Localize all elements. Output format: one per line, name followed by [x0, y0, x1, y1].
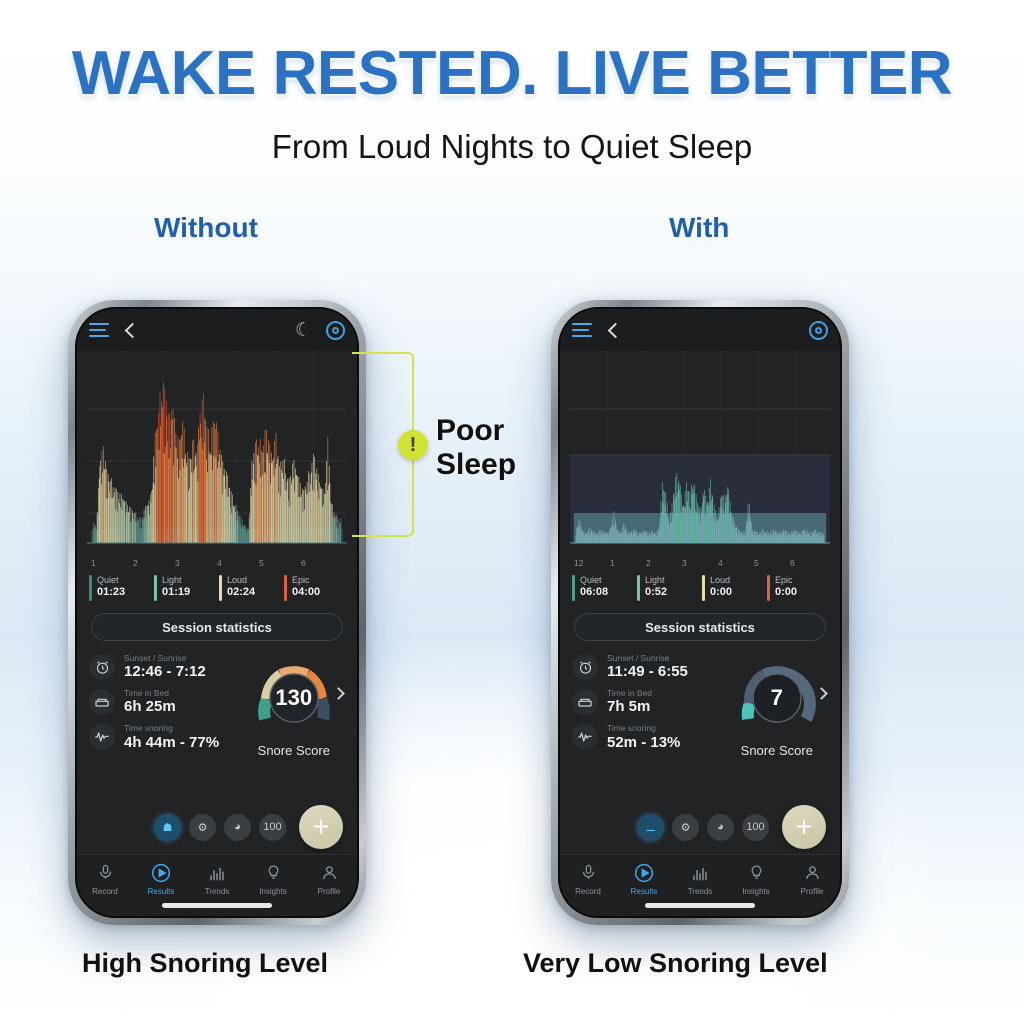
chart-x-axis-with: 12123456: [560, 557, 840, 573]
nav-item-label: Results: [148, 887, 175, 896]
nav-item-label: Profile: [801, 887, 824, 896]
nav-item-label: Insights: [259, 887, 287, 896]
bar-chart-icon: [208, 862, 226, 884]
caption-with: Very Low Snoring Level: [523, 948, 828, 979]
legend-item: Loud0:00: [702, 575, 763, 604]
nav-item-profile[interactable]: Profile: [784, 855, 840, 902]
phone-with: 12123456 Quiet06:08Light0:52Loud0:00Epic…: [551, 300, 849, 925]
session-stats-with: Sunset / Sunrise11:49 - 6:55Time in Bed7…: [560, 649, 840, 800]
add-button[interactable]: +: [782, 805, 826, 849]
stat-label: Time snoring: [124, 723, 219, 733]
legend-item: Light0:52: [637, 575, 698, 604]
stat-label: Time snoring: [607, 723, 680, 733]
snore-score-panel[interactable]: 7 Snore Score: [726, 649, 828, 800]
add-button[interactable]: +: [299, 805, 343, 849]
stat-row: Sunset / Sunrise12:46 - 7:12: [89, 653, 243, 681]
legend-label: Quiet: [580, 575, 608, 586]
phone-without: ☾: [68, 300, 366, 925]
legend-value: 0:00: [710, 586, 732, 600]
alarm-clock-icon: [572, 654, 598, 680]
legend-value: 0:00: [775, 586, 797, 600]
list-icon[interactable]: [572, 323, 592, 337]
stat-label: Sunset / Sunrise: [124, 653, 206, 663]
snore-chart-svg: [570, 351, 830, 557]
chart-legend-without: Quiet01:23Light01:19Loud02:24Epic04:00: [77, 573, 357, 611]
nav-item-label: Record: [575, 887, 601, 896]
phone-screen-without: ☾: [75, 307, 359, 918]
quick-actions-with: ⚊ ⚙ ◕ 100 +: [560, 800, 840, 854]
annotation-line-2: Sleep: [436, 448, 516, 482]
stat-row: Time in Bed6h 25m: [89, 688, 243, 716]
axis-tick: 3: [682, 558, 718, 573]
snore-score-value: 130: [251, 655, 337, 741]
app-screen-without: ☾: [77, 309, 357, 916]
legend-color-swatch: [219, 575, 222, 601]
caption-without: High Snoring Level: [82, 948, 328, 979]
nav-item-label: Insights: [742, 887, 770, 896]
nav-item-profile[interactable]: Profile: [301, 855, 357, 902]
bar-chart-icon: [691, 862, 709, 884]
play-icon: [151, 862, 171, 884]
moon-icon[interactable]: ☾: [295, 321, 312, 340]
poor-sleep-annotation: ! Poor Sleep: [352, 352, 552, 537]
snore-score-panel[interactable]: 130 Snore Score: [243, 649, 345, 800]
pillow-icon[interactable]: ☗: [154, 814, 181, 841]
stat-row: Time in Bed7h 5m: [572, 688, 726, 716]
legend-value: 06:08: [580, 586, 608, 600]
axis-tick: 6: [790, 558, 826, 573]
alarm-clock-icon: [89, 654, 115, 680]
legend-value: 0:52: [645, 586, 667, 600]
chart-legend-with: Quiet06:08Light0:52Loud0:00Epic0:00: [560, 573, 840, 611]
legend-color-swatch: [572, 575, 575, 601]
axis-tick: 6: [301, 558, 343, 573]
legend-value: 04:00: [292, 586, 320, 600]
snore-chart-with[interactable]: [560, 351, 840, 557]
stat-value: 6h 25m: [124, 698, 176, 716]
snore-score-label: Snore Score: [258, 743, 330, 758]
headphones-icon[interactable]: ◕: [224, 814, 251, 841]
waveform-icon: [89, 724, 115, 750]
session-statistics-button[interactable]: Session statistics: [91, 613, 343, 641]
legend-value: 01:23: [97, 586, 125, 600]
axis-tick: 3: [175, 558, 217, 573]
nav-item-results[interactable]: Results: [133, 855, 189, 902]
nav-item-label: Trends: [205, 887, 230, 896]
legend-item: Loud02:24: [219, 575, 280, 604]
stat-label: Sunset / Sunrise: [607, 653, 688, 663]
column-label-with: With: [669, 212, 729, 244]
legend-value: 02:24: [227, 586, 255, 600]
axis-tick: 4: [718, 558, 754, 573]
nav-item-insights[interactable]: Insights: [728, 855, 784, 902]
axis-tick: 12: [574, 558, 610, 573]
axis-tick: 1: [91, 558, 133, 573]
legend-value: 01:19: [162, 586, 190, 600]
stat-label: Time in Bed: [607, 688, 652, 698]
stat-label: Time in Bed: [124, 688, 176, 698]
nav-item-record[interactable]: Record: [77, 855, 133, 902]
legend-label: Loud: [710, 575, 732, 586]
nav-item-trends[interactable]: Trends: [672, 855, 728, 902]
annotation-line-1: Poor: [436, 414, 516, 448]
app-topbar: [560, 309, 840, 351]
snore-score-value: 7: [734, 655, 820, 741]
nav-item-label: Results: [631, 887, 658, 896]
person-icon: [804, 862, 821, 884]
axis-tick: 5: [754, 558, 790, 573]
back-chevron-icon[interactable]: [608, 322, 624, 338]
nose-spray-icon[interactable]: ⚙: [672, 814, 699, 841]
legend-color-swatch: [154, 575, 157, 601]
snore-score-label: Snore Score: [741, 743, 813, 758]
nav-item-label: Trends: [688, 887, 713, 896]
legend-color-swatch: [702, 575, 705, 601]
list-icon[interactable]: [89, 323, 109, 337]
stat-value: 11:49 - 6:55: [607, 663, 688, 681]
stat-value: 52m - 13%: [607, 734, 680, 752]
axis-tick: 1: [610, 558, 646, 573]
warning-badge-icon: !: [398, 430, 428, 460]
stat-value: 12:46 - 7:12: [124, 663, 206, 681]
session-statistics-button[interactable]: Session statistics: [574, 613, 826, 641]
headphones-icon[interactable]: ◕: [707, 814, 734, 841]
bed-icon: [572, 689, 598, 715]
legend-item: Light01:19: [154, 575, 215, 604]
legend-item: Quiet01:23: [89, 575, 150, 604]
gear-icon[interactable]: [809, 321, 828, 340]
snore-chart-svg: [87, 351, 347, 557]
nav-item-insights[interactable]: Insights: [245, 855, 301, 902]
nav-item-record[interactable]: Record: [560, 855, 616, 902]
lightbulb-icon: [265, 862, 282, 884]
promo-comparison-graphic: WAKE RESTED. LIVE BETTER From Loud Night…: [0, 0, 1024, 1024]
legend-label: Quiet: [97, 575, 125, 586]
annotation-text: Poor Sleep: [436, 414, 516, 481]
axis-tick: 5: [259, 558, 301, 573]
bed-icon: [89, 689, 115, 715]
page-title: WAKE RESTED. LIVE BETTER: [0, 38, 1024, 109]
chart-x-axis-without: 123456: [77, 557, 357, 573]
nav-item-label: Profile: [318, 887, 341, 896]
column-label-without: Without: [154, 212, 258, 244]
back-chevron-icon[interactable]: [125, 322, 141, 338]
gear-icon[interactable]: [326, 321, 345, 340]
legend-color-swatch: [637, 575, 640, 601]
legend-label: Light: [645, 575, 667, 586]
mouthpiece-icon[interactable]: ⚊: [637, 814, 664, 841]
legend-item: Epic04:00: [284, 575, 345, 604]
app-screen-with: 12123456 Quiet06:08Light0:52Loud0:00Epic…: [560, 309, 840, 916]
phone-screen-with: 12123456 Quiet06:08Light0:52Loud0:00Epic…: [558, 307, 842, 918]
waveform-icon: [572, 724, 598, 750]
microphone-icon: [97, 862, 114, 884]
app-topbar: ☾: [77, 309, 357, 351]
axis-tick: 2: [133, 558, 175, 573]
snore-chart-without[interactable]: [77, 351, 357, 557]
person-icon: [321, 862, 338, 884]
stat-value: 7h 5m: [607, 698, 652, 716]
nav-item-trends[interactable]: Trends: [189, 855, 245, 902]
legend-item: Epic0:00: [767, 575, 828, 604]
legend-label: Light: [162, 575, 190, 586]
nose-spray-icon[interactable]: ⚙: [189, 814, 216, 841]
home-indicator: [645, 903, 755, 908]
lightbulb-icon: [748, 862, 765, 884]
quick-actions-without: ☗ ⚙ ◕ 100 +: [77, 800, 357, 854]
legend-color-swatch: [767, 575, 770, 601]
nav-item-results[interactable]: Results: [616, 855, 672, 902]
axis-tick: 4: [217, 558, 259, 573]
hundred-icon[interactable]: 100: [742, 814, 769, 841]
legend-label: Epic: [775, 575, 797, 586]
home-indicator: [162, 903, 272, 908]
stat-row: Sunset / Sunrise11:49 - 6:55: [572, 653, 726, 681]
session-stats-without: Sunset / Sunrise12:46 - 7:12Time in Bed6…: [77, 649, 357, 800]
legend-label: Epic: [292, 575, 320, 586]
play-icon: [634, 862, 654, 884]
hundred-icon[interactable]: 100: [259, 814, 286, 841]
snore-score-gauge: 130: [251, 655, 337, 741]
legend-item: Quiet06:08: [572, 575, 633, 604]
stat-value: 4h 44m - 77%: [124, 734, 219, 752]
stat-row: Time snoring52m - 13%: [572, 723, 726, 751]
legend-color-swatch: [89, 575, 92, 601]
snore-score-gauge: 7: [734, 655, 820, 741]
page-subtitle: From Loud Nights to Quiet Sleep: [0, 128, 1024, 166]
axis-tick: 2: [646, 558, 682, 573]
legend-label: Loud: [227, 575, 255, 586]
stat-row: Time snoring4h 44m - 77%: [89, 723, 243, 751]
nav-item-label: Record: [92, 887, 118, 896]
legend-color-swatch: [284, 575, 287, 601]
microphone-icon: [580, 862, 597, 884]
